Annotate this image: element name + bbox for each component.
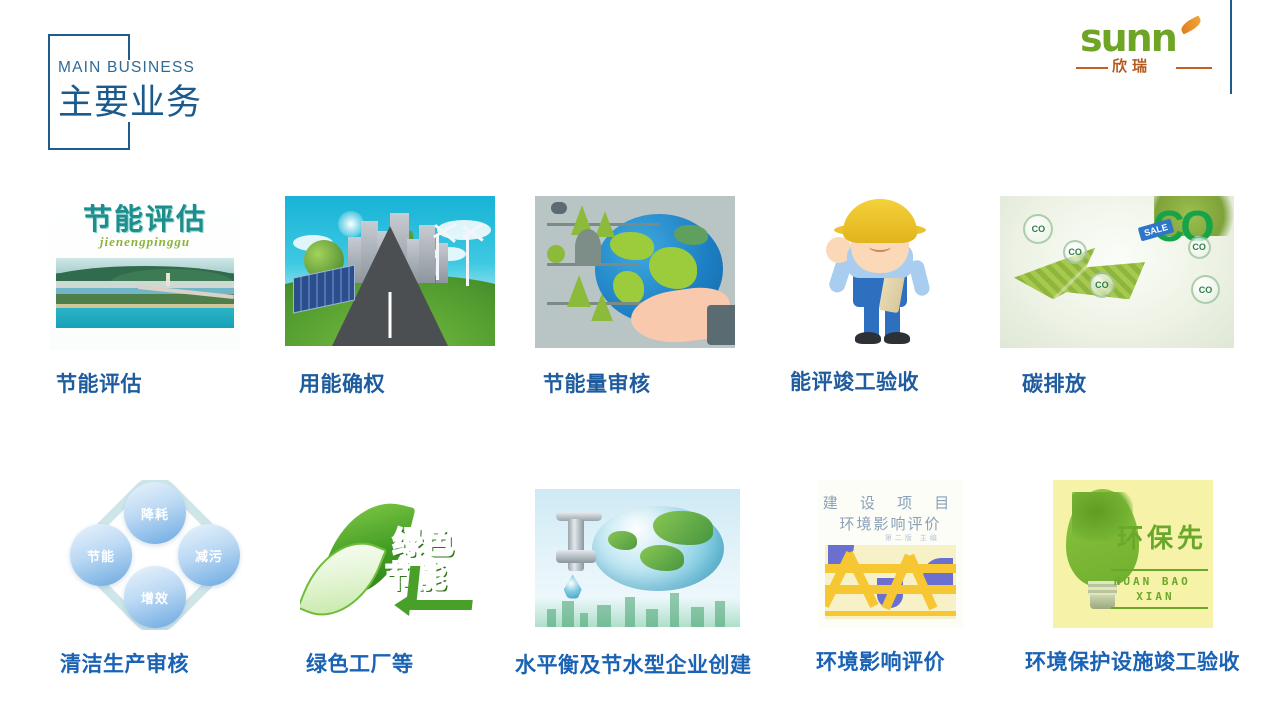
card-label: 清洁生产审核 [60, 648, 189, 678]
frame-left-line [48, 34, 50, 150]
page-title-cn: 主要业务 [58, 80, 478, 126]
frame-top-line [48, 34, 130, 36]
card-label: 水平衡及节水型企业创建 [515, 649, 752, 679]
card-energy-rights-confirmation[interactable]: 用能确权 [285, 196, 495, 346]
poster-title-text: 节能评估 [83, 196, 207, 238]
card-label: 环境保护设施竣工验收 [1025, 646, 1240, 676]
card-thumbnail: 环保先 HUAN BAO XIAN [1053, 480, 1213, 628]
book-title-line2: 环境影响评价 [839, 513, 941, 534]
card-environmental-impact-assessment[interactable]: 建 设 项 目 环境影响评价 第二版 主编 环境影响评价 [818, 480, 963, 628]
header-divider-line [1230, 0, 1232, 94]
card-thumbnail: 建 设 项 目 环境影响评价 第二版 主编 [818, 480, 963, 628]
recycle-arrow-icon [406, 566, 477, 610]
poster-pinyin-text: jienengpinggu [100, 234, 190, 250]
poster-main-text: 环保先 [1117, 518, 1207, 555]
card-environmental-protection-facility-acceptance[interactable]: 环保先 HUAN BAO XIAN 环境保护设施竣工验收 [1053, 480, 1213, 628]
construction-worker-art [790, 190, 970, 348]
logo-rule-left [1076, 67, 1108, 69]
hard-hat-icon [843, 199, 917, 243]
book-cover-graphic [825, 545, 956, 619]
logo-chinese-name: 欣瑞 [1112, 58, 1152, 76]
card-thumbnail [790, 190, 970, 348]
book-title-line1: 建 设 项 目 [823, 492, 959, 513]
card-thumbnail: 绿色 节能 [300, 486, 485, 630]
cycle-node-left: 节能 [70, 524, 132, 586]
page-title-en: MAIN BUSINESS [58, 58, 478, 78]
frame-right-top-line [128, 34, 130, 60]
frame-right-bottom-line [128, 122, 130, 150]
card-thumbnail: 降耗 减污 增效 节能 [60, 480, 250, 630]
water-drop-icon [564, 575, 582, 599]
hand-holding-globe-art [535, 196, 735, 348]
card-thumbnail [285, 196, 495, 346]
poster-pinyin-2: XIAN [1136, 590, 1175, 603]
card-thumbnail: CO SALE CO CO CO CO CO [1000, 196, 1234, 348]
globe-icon [592, 506, 723, 592]
card-energy-assessment-completion-acceptance[interactable]: 能评竣工验收 [790, 190, 970, 348]
card-label: 节能评估 [56, 368, 142, 398]
carbon-arrow-art: CO SALE CO CO CO CO CO [1000, 196, 1234, 348]
co2-bubble-icon: CO [1188, 236, 1211, 259]
card-label: 节能量审核 [543, 368, 651, 398]
card-thumbnail: 节能评估 jienengpinggu [50, 190, 240, 350]
card-energy-saving-assessment[interactable]: 节能评估 jienengpinggu 节能评估 [50, 190, 240, 350]
logo-wordmark: sunn [1080, 18, 1176, 58]
card-label: 环境影响评价 [816, 646, 945, 676]
cycle-node-bottom: 增效 [124, 566, 186, 628]
card-thumbnail [535, 196, 735, 348]
card-label: 能评竣工验收 [790, 366, 919, 396]
energy-saving-assessment-poster-art: 节能评估 jienengpinggu [50, 190, 240, 350]
eco-city-illustration-art [285, 196, 495, 346]
cycle-node-top: 降耗 [124, 482, 186, 544]
eco-lightbulb-art: 环保先 HUAN BAO XIAN [1053, 480, 1213, 628]
leaf-icon [1179, 15, 1203, 34]
card-energy-saving-audit[interactable]: 节能量审核 [535, 196, 735, 348]
book-subtitle: 第二版 主编 [885, 533, 940, 543]
company-logo: sunn 欣瑞 [1076, 18, 1216, 80]
card-label: 碳排放 [1022, 368, 1087, 398]
poster-pinyin-1: HUAN BAO [1114, 575, 1191, 588]
faucet-globe-art [535, 489, 740, 627]
card-carbon-emission[interactable]: CO SALE CO CO CO CO CO 碳排放 [1000, 196, 1234, 348]
card-water-balance[interactable]: 水平衡及节水型企业创建 [535, 489, 740, 627]
page-title: MAIN BUSINESS 主要业务 [58, 58, 478, 126]
card-label: 用能确权 [299, 368, 385, 398]
card-cleaner-production-audit[interactable]: 降耗 减污 增效 节能 清洁生产审核 [60, 480, 250, 630]
card-thumbnail [535, 489, 740, 627]
co2-bubble-icon: CO [1089, 272, 1115, 298]
card-label: 绿色工厂等 [306, 648, 414, 678]
eia-book-cover-art: 建 设 项 目 环境影响评价 第二版 主编 [818, 480, 963, 628]
co2-bubble-icon: CO [1023, 214, 1053, 244]
faucet-body-icon [568, 519, 584, 571]
card-green-factory[interactable]: 绿色 节能 绿色工厂等 [300, 486, 485, 630]
cycle-node-right: 减污 [178, 524, 240, 586]
four-node-cycle-art: 降耗 减污 增效 节能 [60, 480, 250, 630]
frame-bottom-line [48, 148, 130, 150]
co2-bubble-icon: CO [1191, 275, 1220, 304]
logo-rule-right [1176, 67, 1212, 69]
green-leaves-logo-art: 绿色 节能 [300, 486, 485, 630]
poster-photo [56, 258, 234, 328]
faucet-spout-icon [556, 550, 596, 563]
